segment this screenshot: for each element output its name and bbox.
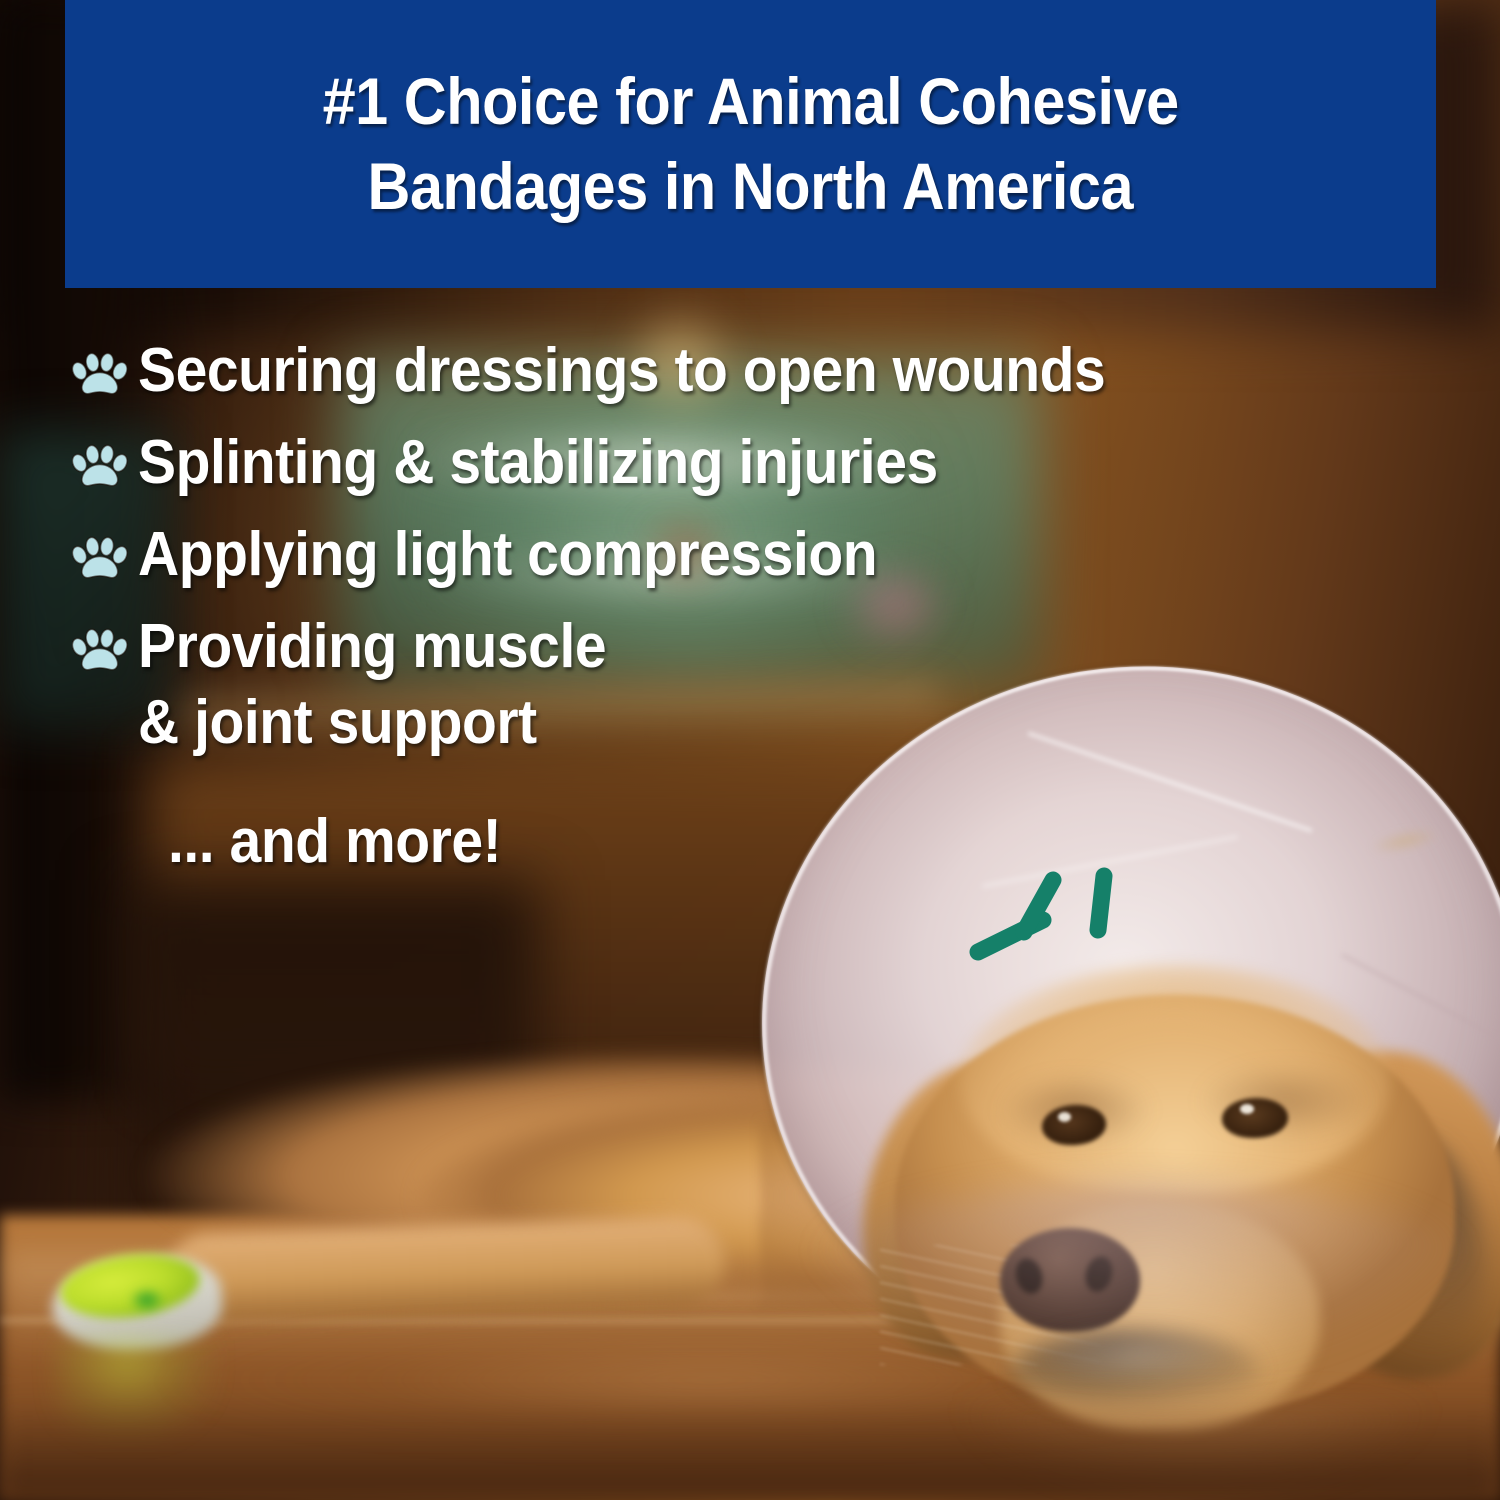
- paw-print-icon: [72, 536, 128, 588]
- list-item: Splinting & stabilizing injuries: [72, 430, 1462, 496]
- paw-print-icon: [72, 352, 128, 404]
- list-item-label-continued: & joint support: [138, 690, 606, 756]
- list-item-label: Providing muscle: [138, 614, 606, 680]
- list-item-label: Splinting & stabilizing injuries: [138, 430, 938, 496]
- headline-line-1: #1 Choice for Animal Cohesive: [322, 67, 1178, 136]
- list-item: Applying light compression: [72, 522, 1462, 588]
- list-item: Securing dressings to open wounds: [72, 338, 1462, 404]
- paw-print-icon: [72, 338, 138, 404]
- paw-print-icon: [72, 522, 138, 588]
- paw-print-icon: [72, 628, 128, 680]
- headline-banner: #1 Choice for Animal Cohesive Bandages i…: [65, 0, 1436, 288]
- list-item-label: Securing dressings to open wounds: [138, 338, 1105, 404]
- paw-print-icon: [72, 614, 138, 680]
- closing-label: ... and more!: [168, 809, 609, 875]
- list-item: Providing muscle & joint support ... and…: [72, 614, 1462, 875]
- benefits-list: Securing dressings to open wounds Splint…: [72, 338, 1462, 875]
- paw-print-icon: [72, 430, 138, 496]
- paw-print-icon: [72, 444, 128, 496]
- list-item-label: Applying light compression: [138, 522, 877, 588]
- headline-line-2: Bandages in North America: [368, 152, 1134, 221]
